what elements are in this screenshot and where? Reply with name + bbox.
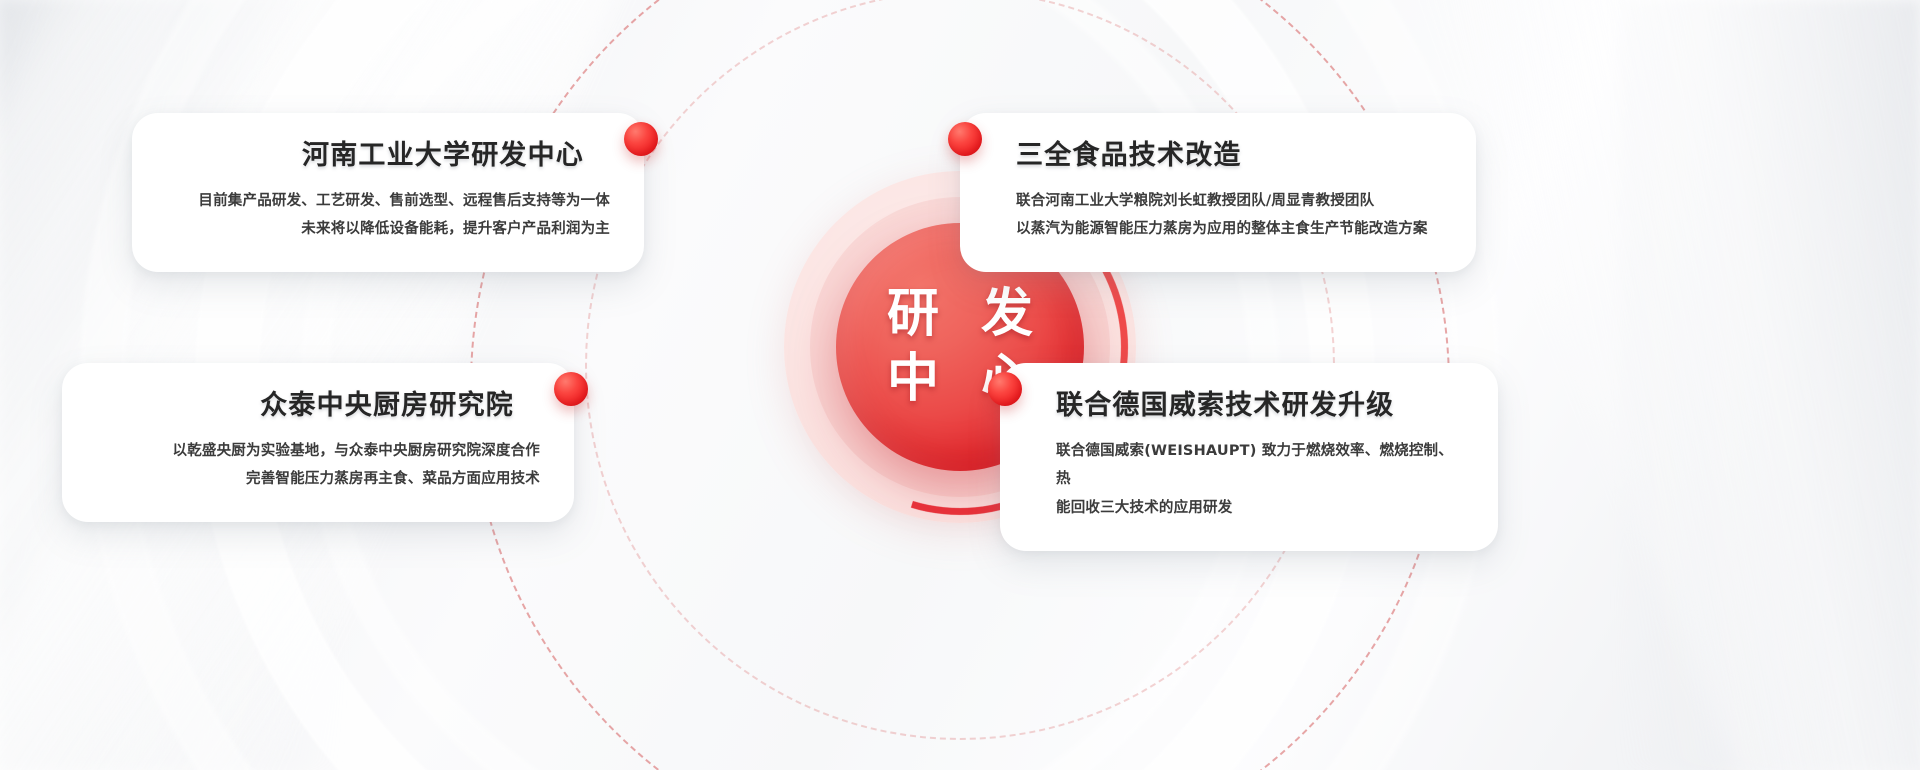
card-subtitle-line: 完善智能压力蒸房再主食、菜品方面应用技术 [96, 465, 540, 494]
red-dot-icon [554, 372, 588, 406]
card-zhongtai-central-kitchen-institute[interactable]: 众泰中央厨房研究院 以乾盛央厨为实验基地，与众泰中央厨房研究院深度合作 完善智能… [62, 363, 574, 522]
card-subtitle-line: 联合河南工业大学粮院刘长虹教授团队/周显青教授团队 [994, 187, 1442, 216]
card-subtitle-line: 以乾盛央厨为实验基地，与众泰中央厨房研究院深度合作 [96, 437, 540, 466]
red-dot-icon [624, 122, 658, 156]
card-subtitle-line: 未来将以降低设备能耗，提升客户产品利润为主 [166, 215, 610, 244]
infographic-stage: 研 发 中 心 河南工业大学研发中心 目前集产品研发、工艺研发、售前选型、远程售… [0, 0, 1920, 770]
card-title: 联合德国威索技术研发升级 [1034, 389, 1464, 423]
card-subtitle-line: 能回收三大技术的应用研发 [1034, 494, 1464, 523]
card-subtitle-line: 联合德国威索(WEISHAUPT) 致力于燃烧效率、燃烧控制、热 [1034, 437, 1464, 494]
card-weishaupt-joint-rd-upgrade[interactable]: 联合德国威索技术研发升级 联合德国威索(WEISHAUPT) 致力于燃烧效率、燃… [1000, 363, 1498, 551]
card-sanquan-food-tech-upgrade[interactable]: 三全食品技术改造 联合河南工业大学粮院刘长虹教授团队/周显青教授团队 以蒸汽为能… [960, 113, 1476, 272]
red-dot-icon [948, 122, 982, 156]
card-subtitle-line: 目前集产品研发、工艺研发、售前选型、远程售后支持等为一体 [166, 187, 610, 216]
card-subtitle-line: 以蒸汽为能源智能压力蒸房为应用的整体主食生产节能改造方案 [994, 215, 1442, 244]
center-title-line-1: 研 发 [875, 284, 1045, 345]
card-title: 众泰中央厨房研究院 [96, 389, 540, 423]
card-title: 三全食品技术改造 [994, 139, 1442, 173]
card-henan-university-rd-center[interactable]: 河南工业大学研发中心 目前集产品研发、工艺研发、售前选型、远程售后支持等为一体 … [132, 113, 644, 272]
red-dot-icon [988, 372, 1022, 406]
card-title: 河南工业大学研发中心 [166, 139, 610, 173]
